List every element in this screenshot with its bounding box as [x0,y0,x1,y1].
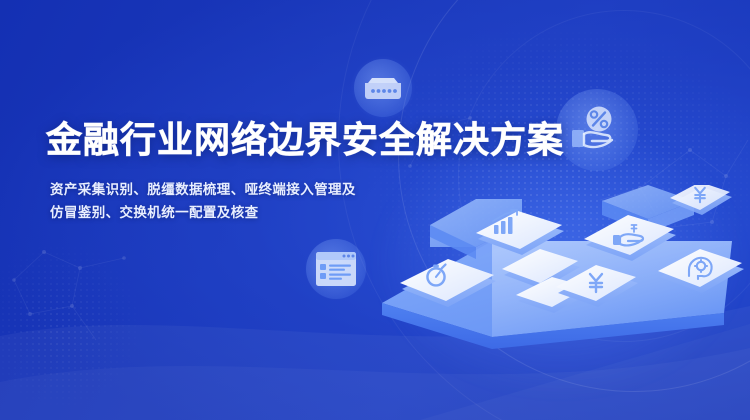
banner-hero: 金融行业网络边界安全解决方案 资产采集识别、脱缰数据梳理、哑终端接入管理及 仿冒… [0,0,750,420]
hand-percent-icon [568,104,626,156]
page-title: 金融行业网络边界安全解决方案 [46,118,516,162]
subtitle-line-2: 仿冒鉴别、交换机统一配置及核查 [50,201,516,224]
subtitle-line-1: 资产采集识别、脱缰数据梳理、哑终端接入管理及 [50,178,516,201]
document-badge [292,225,380,313]
server-icon [360,73,406,103]
hero-text-block: 金融行业网络边界安全解决方案 资产采集识别、脱缰数据梳理、哑终端接入管理及 仿冒… [46,118,516,224]
document-window-icon [314,250,358,288]
page-subtitle: 资产采集识别、脱缰数据梳理、哑终端接入管理及 仿冒鉴别、交换机统一配置及核查 [50,178,516,224]
world-dot-map-secondary-icon [0,215,200,415]
